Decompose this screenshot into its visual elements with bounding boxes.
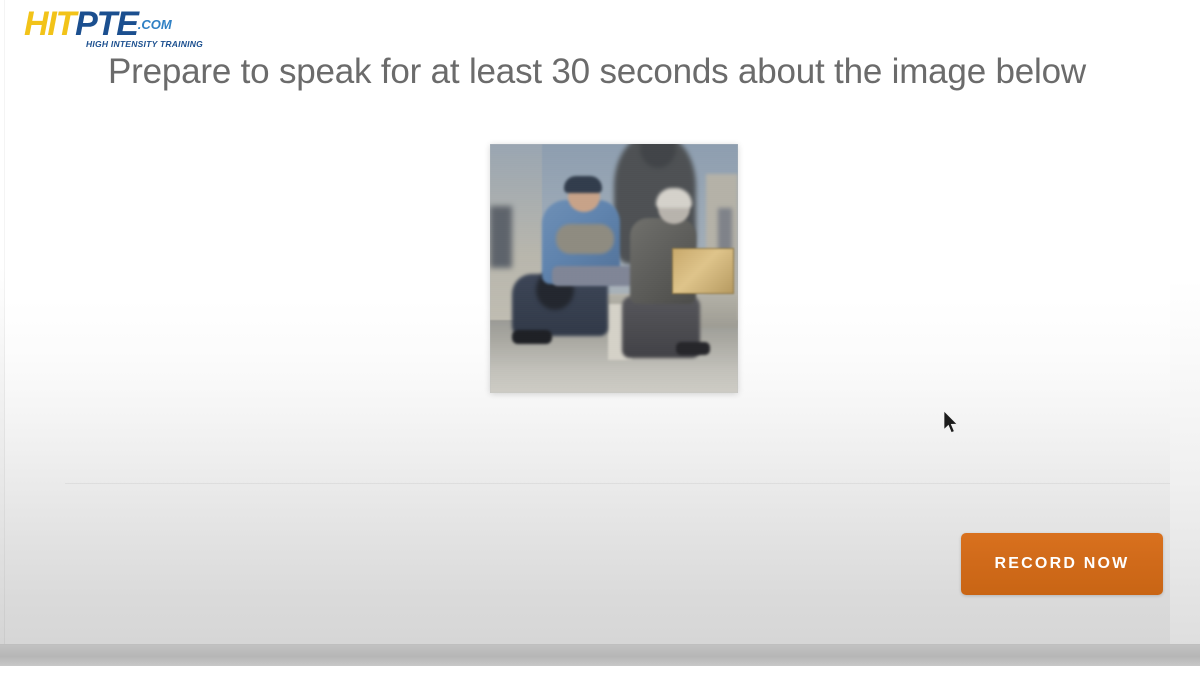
logo-text-com: .COM bbox=[138, 17, 172, 32]
prompt-image-canvas bbox=[490, 144, 738, 393]
logo-text-hit: HIT bbox=[24, 5, 75, 43]
photo-man2-shoe bbox=[676, 342, 710, 355]
site-logo[interactable]: HITPTE.COM HIGH INTENSITY TRAINING bbox=[24, 7, 224, 49]
viewport-right-edge bbox=[1170, 0, 1200, 666]
photo-wall-shadow bbox=[490, 206, 512, 268]
mouse-cursor-arrow-icon bbox=[942, 410, 960, 436]
logo-wordmark: HITPTE.COM bbox=[24, 7, 224, 42]
viewport-left-edge bbox=[0, 0, 5, 666]
content-divider bbox=[65, 483, 1170, 484]
photo-man1-lap bbox=[552, 266, 636, 286]
page-title: Prepare to speak for at least 30 seconds… bbox=[108, 52, 1138, 92]
logo-tagline: HIGH INTENSITY TRAINING bbox=[86, 39, 203, 49]
photo-man1-arm bbox=[556, 224, 614, 254]
photo-man2-board bbox=[672, 248, 734, 294]
screen-capture: HITPTE.COM HIGH INTENSITY TRAINING Prepa… bbox=[0, 0, 1200, 675]
photo-man1-cap bbox=[564, 176, 602, 193]
logo-text-pte: PTE bbox=[75, 5, 138, 43]
viewport-bottom-bar bbox=[0, 644, 1200, 666]
prompt-image bbox=[490, 144, 738, 393]
application-viewport: HITPTE.COM HIGH INTENSITY TRAINING Prepa… bbox=[0, 0, 1200, 666]
page-bottom-margin bbox=[0, 666, 1200, 675]
record-now-button[interactable]: RECORD NOW bbox=[961, 533, 1163, 595]
photo-man1-shoe bbox=[512, 330, 552, 344]
